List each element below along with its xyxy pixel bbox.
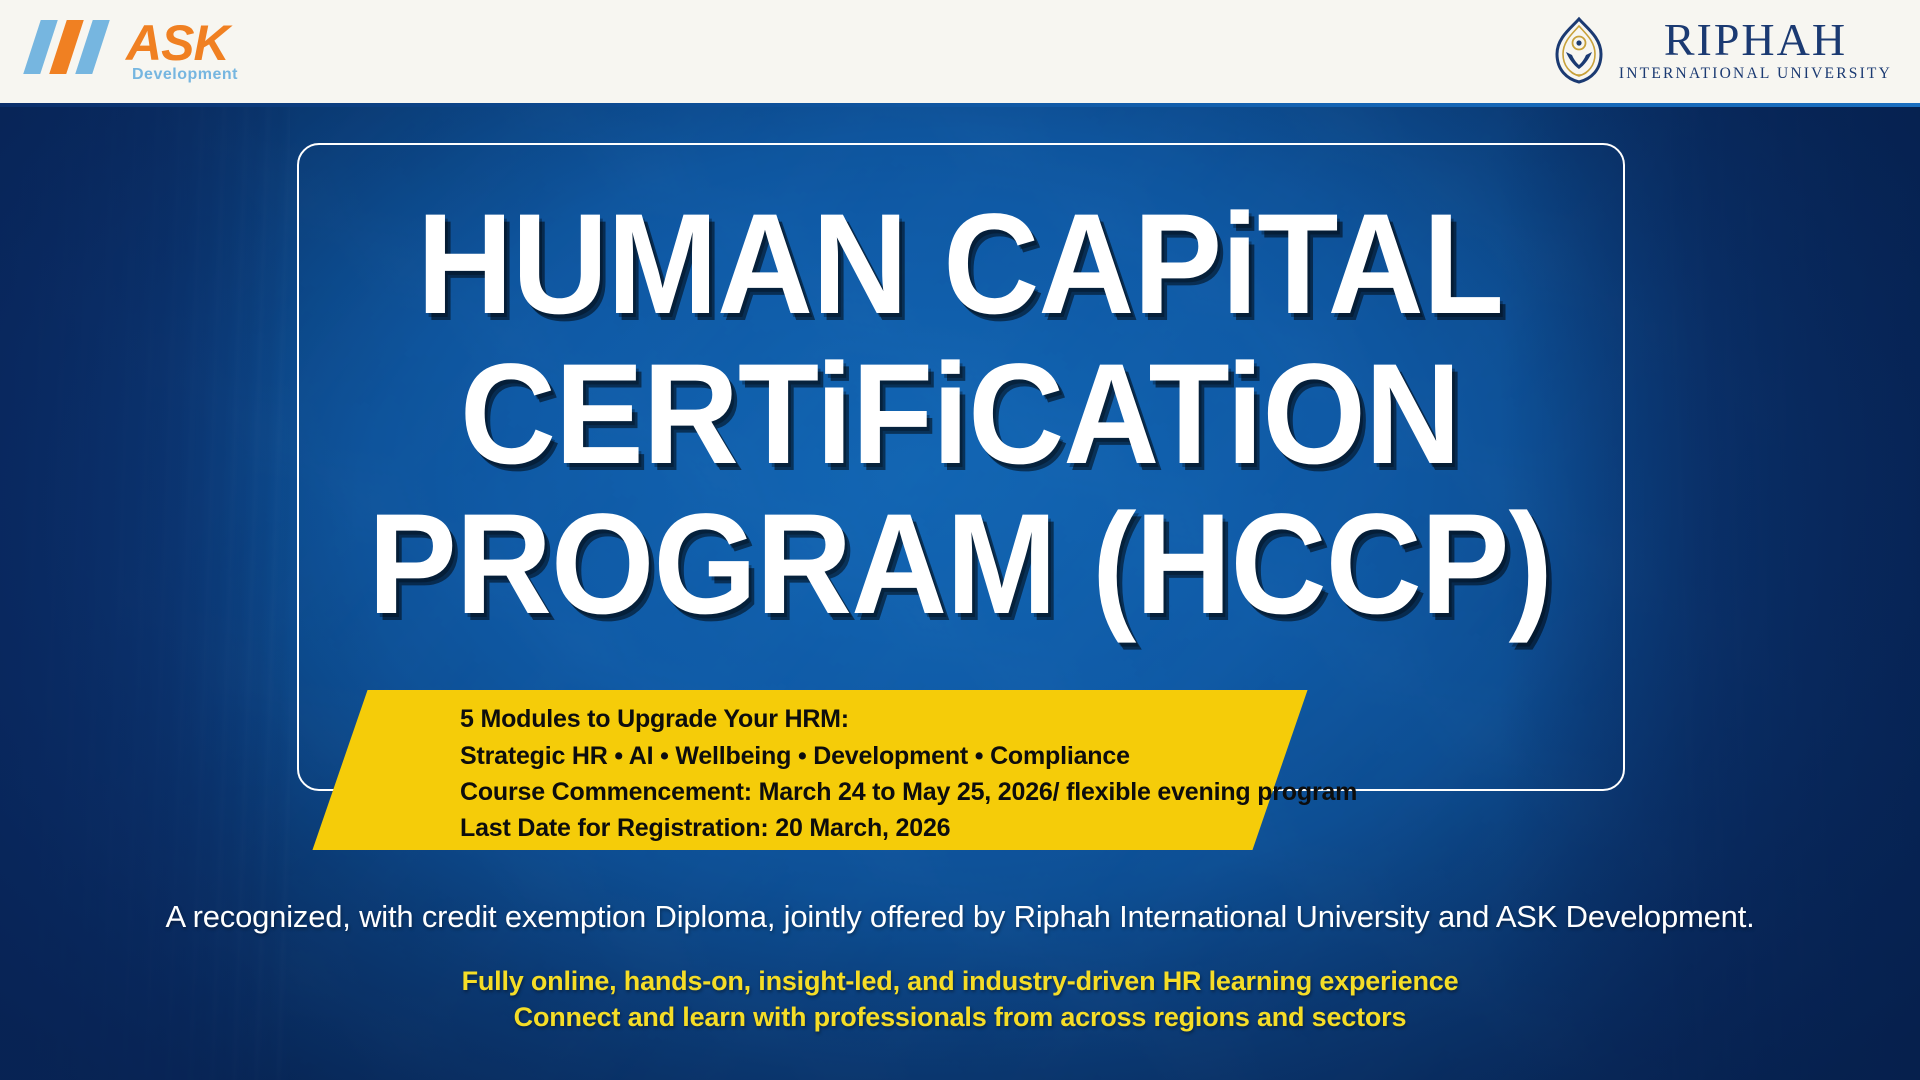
program-title: HUMAN CAPiTAL CERTiFiCATiON PROGRAM (HCC… — [0, 190, 1920, 640]
ask-development-logo: ASK Development — [28, 14, 268, 92]
ask-logo-subtitle: Development — [132, 66, 238, 84]
riphah-crest-icon — [1551, 16, 1607, 84]
highlight-banner-content: 5 Modules to Upgrade Your HRM: Strategic… — [460, 700, 1500, 846]
tagline-line-2: Connect and learn with professionals fro… — [0, 999, 1920, 1035]
title-line-1: HUMAN CAPiTAL — [67, 190, 1853, 340]
header-bar: ASK Development RIPHAH INTERNATIONAL UNI… — [0, 0, 1920, 107]
footer-text-block: A recognized, with credit exemption Dipl… — [0, 893, 1920, 1035]
riphah-wordmark: RIPHAH INTERNATIONAL UNIVERSITY — [1619, 16, 1892, 84]
tagline-line-1: Fully online, hands-on, insight-led, and… — [0, 963, 1920, 999]
ask-logo-name: ASK — [126, 14, 229, 72]
modules-heading: 5 Modules to Upgrade Your HRM: — [460, 700, 1500, 738]
title-line-3: PROGRAM (HCCP) — [67, 490, 1853, 640]
riphah-logo-name: RIPHAH — [1664, 16, 1847, 64]
header-divider — [0, 103, 1920, 107]
accreditation-text: A recognized, with credit exemption Dipl… — [0, 893, 1920, 941]
riphah-logo-tagline: INTERNATIONAL UNIVERSITY — [1619, 64, 1892, 84]
title-line-2: CERTiFiCATiON — [67, 340, 1853, 490]
riphah-university-logo: RIPHAH INTERNATIONAL UNIVERSITY — [1551, 10, 1892, 90]
promotional-banner: ASK Development RIPHAH INTERNATIONAL UNI… — [0, 0, 1920, 1080]
registration-deadline: Last Date for Registration: 20 March, 20… — [460, 810, 1500, 846]
course-commencement: Course Commencement: March 24 to May 25,… — [460, 774, 1500, 810]
modules-list: Strategic HR • AI • Wellbeing • Developm… — [460, 738, 1500, 774]
